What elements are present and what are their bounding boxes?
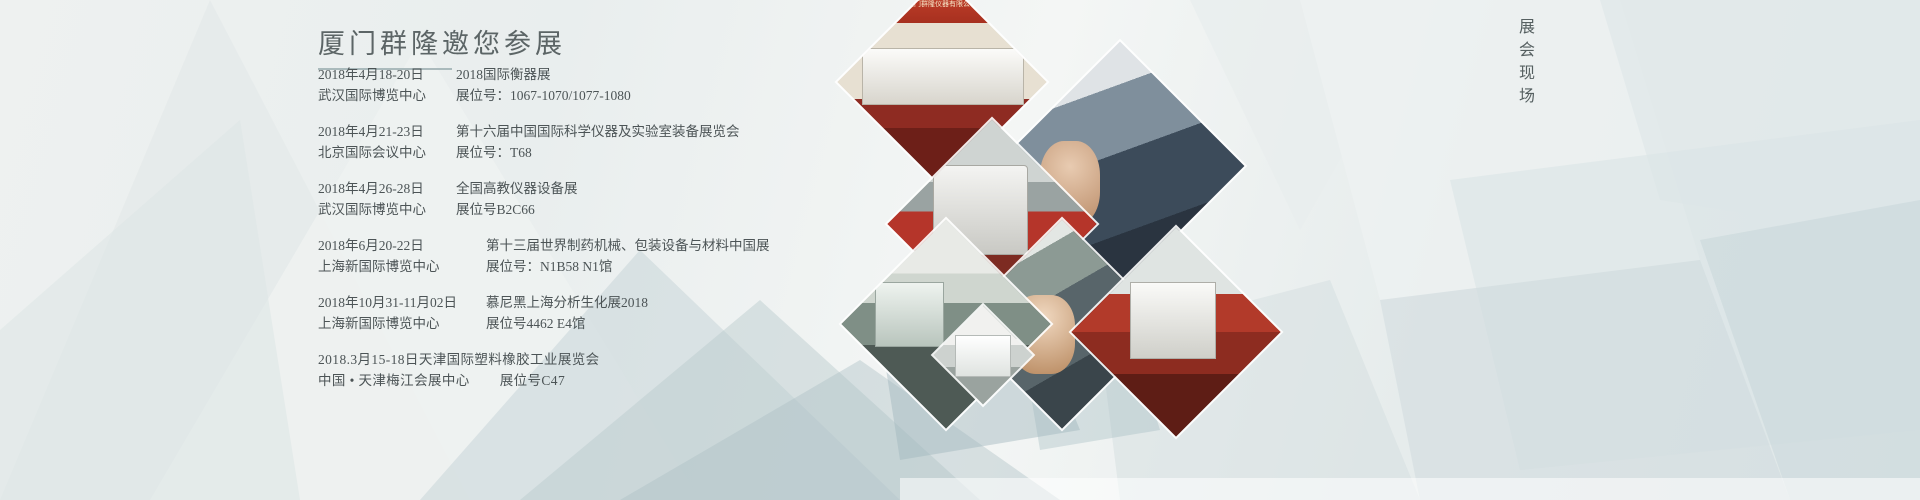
- event-venue: 中国 • 天津梅江会展中心: [318, 370, 470, 391]
- event-booth: 展位号4462 E4馆: [486, 316, 585, 331]
- event-name: 慕尼黑上海分析生化展2018: [486, 295, 648, 310]
- event-date: 2018年6月20-22日: [318, 235, 468, 256]
- event-name: 第十六届中国国际科学仪器及实验室装备展览会: [456, 124, 740, 139]
- photo-collage: 密度计&水分仪中国 厦门群隆仪器有限公司: [840, 0, 1260, 500]
- banner-stage: 厦门群隆邀您参展 2018年4月18-20日2018国际衡器展 武汉国际博览中心…: [0, 0, 1920, 500]
- event-venue: 北京国际会议中心: [318, 142, 438, 163]
- onsite-caption: 展会现场: [1512, 18, 1536, 110]
- event-date: 2018年4月21-23日: [318, 121, 438, 142]
- event-date: 2018年4月18-20日: [318, 64, 438, 85]
- event-booth: 展位号：T68: [456, 145, 532, 160]
- booth-banner-text: 密度计&水分仪中国 厦门群隆仪器有限公司: [850, 0, 1035, 23]
- page-title: 厦门群隆邀您参展: [318, 22, 566, 61]
- event-date: 2018年4月26-28日: [318, 178, 438, 199]
- headline-block: 厦门群隆邀您参展: [318, 22, 566, 70]
- event-name: 全国高教仪器设备展: [456, 181, 578, 196]
- event-booth: 展位号C47: [500, 373, 565, 388]
- event-venue: 上海新国际博览中心: [318, 256, 468, 277]
- booth-banner-line2: 厦门群隆仪器有限公司: [850, 0, 1035, 11]
- event-date: 2018年10月31-11月02日: [318, 292, 468, 313]
- event-date: 2018.3月15-18日天津国际塑料橡胶工业展览会: [318, 349, 600, 370]
- event-venue: 武汉国际博览中心: [318, 85, 438, 106]
- event-venue: 武汉国际博览中心: [318, 199, 438, 220]
- event-venue: 上海新国际博览中心: [318, 313, 468, 334]
- event-name: 第十三届世界制药机械、包装设备与材料中国展: [486, 238, 770, 253]
- event-booth: 展位号：1067-1070/1077-1080: [456, 88, 631, 103]
- event-name: 2018国际衡器展: [456, 67, 551, 82]
- event-booth: 展位号：N1B58 N1馆: [486, 259, 612, 274]
- event-booth: 展位号B2C66: [456, 202, 535, 217]
